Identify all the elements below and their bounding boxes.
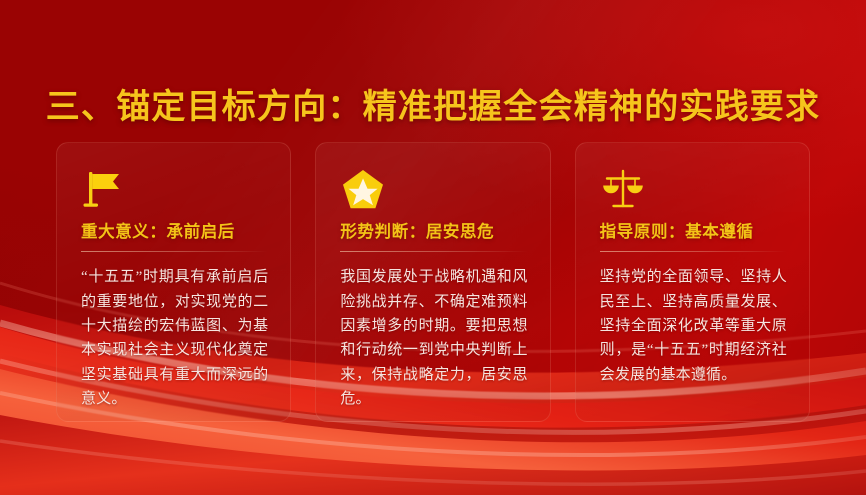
info-card-3[interactable]: 指导原则：基本遵循 坚持党的全面领导、坚持人民至上、坚持高质量发展、坚持全面深化… bbox=[575, 142, 810, 422]
card-body: 我国发展处于战略机遇和风险挑战并存、不确定难预料因素增多的时期。要把思想和行动统… bbox=[340, 265, 527, 411]
card-list: 重大意义：承前启后 “十五五”时期具有承前启后的重要地位，对实现党的二十大描绘的… bbox=[56, 142, 810, 422]
card-divider bbox=[600, 251, 787, 252]
card-divider bbox=[340, 251, 527, 252]
star-badge-icon bbox=[340, 165, 529, 213]
card-divider bbox=[81, 251, 268, 252]
card-heading: 指导原则：基本遵循 bbox=[600, 221, 789, 242]
card-body: “十五五”时期具有承前启后的重要地位，对实现党的二十大描绘的宏伟蓝图、为基本实现… bbox=[81, 265, 268, 411]
balance-scale-icon bbox=[600, 165, 789, 213]
slide-root: 三、锚定目标方向：精准把握全会精神的实践要求 重大意义：承前启后 “十五五”时期… bbox=[0, 0, 866, 495]
flag-icon bbox=[81, 165, 270, 213]
info-card-1[interactable]: 重大意义：承前启后 “十五五”时期具有承前启后的重要地位，对实现党的二十大描绘的… bbox=[56, 142, 291, 422]
card-heading: 形势判断：居安思危 bbox=[340, 221, 529, 242]
card-body: 坚持党的全面领导、坚持人民至上、坚持高质量发展、坚持全面深化改革等重大原则，是“… bbox=[600, 265, 787, 386]
info-card-2[interactable]: 形势判断：居安思危 我国发展处于战略机遇和风险挑战并存、不确定难预料因素增多的时… bbox=[315, 142, 550, 422]
page-title: 三、锚定目标方向：精准把握全会精神的实践要求 bbox=[0, 87, 866, 130]
card-heading: 重大意义：承前启后 bbox=[81, 221, 270, 242]
